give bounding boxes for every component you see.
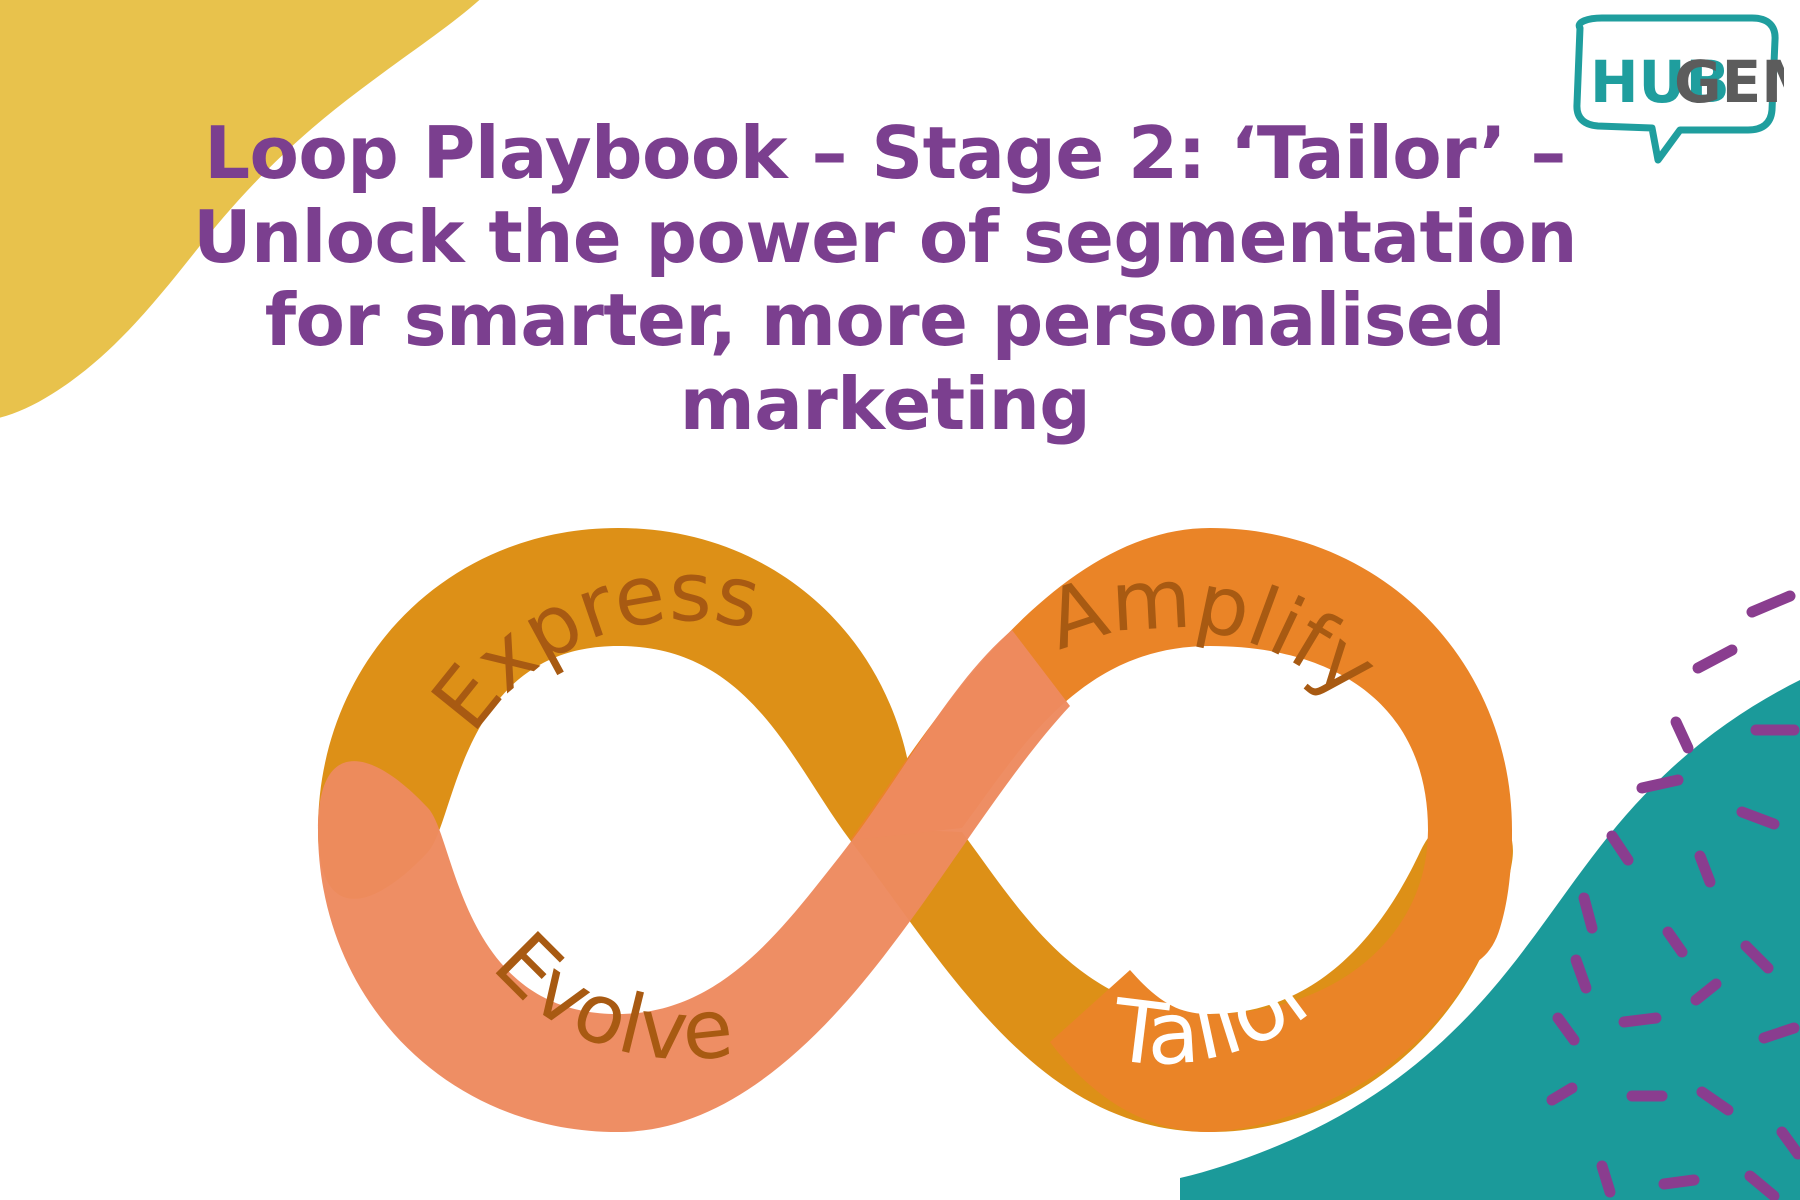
logo-text-gem: GEM xyxy=(1674,48,1784,116)
title-line-2: Unlock the power of segmentation xyxy=(170,196,1600,280)
slide-canvas: HUB GEM Loop Playbook – Stage 2: ‘Tailor… xyxy=(0,0,1800,1200)
title-line-3: for smarter, more personalised xyxy=(170,279,1600,363)
page-title: Loop Playbook – Stage 2: ‘Tailor’ – Unlo… xyxy=(170,112,1600,446)
title-line-4: marketing xyxy=(170,363,1600,447)
loop-playbook-infinity-diagram: Express Amplify Evolve Tailor xyxy=(250,470,1580,1190)
title-line-1: Loop Playbook – Stage 2: ‘Tailor’ – xyxy=(170,112,1600,196)
